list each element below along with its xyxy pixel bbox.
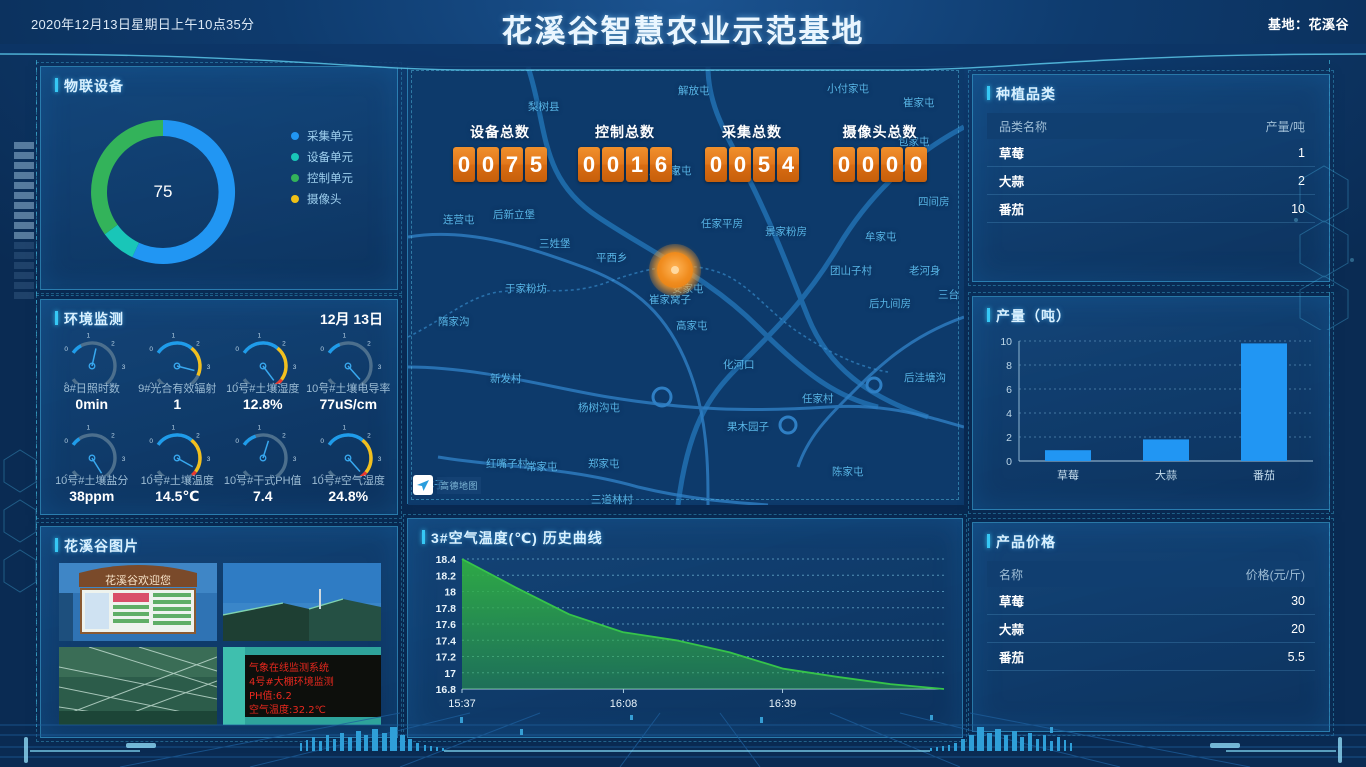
gauge-arc-blue [329,345,340,353]
stat-digits: 0054 [705,147,799,182]
table-row[interactable]: 番茄 5.5 [987,643,1315,671]
page-title: 花溪谷智慧农业示范基地 [0,6,1366,51]
gauge-value: 12.8% [220,396,306,412]
gauge-label: 10号#土壤盐分 [43,472,141,488]
map-label-13: 隋家沟 [438,314,470,329]
table-row[interactable]: 草莓 1 [987,139,1315,167]
legend-item-2[interactable]: 控制单元 [291,167,353,188]
history-area-chart[interactable]: 16.81717.217.417.617.81818.218.415:3716:… [416,547,956,727]
map-label-10: 平西乡 [596,250,628,265]
panel-iot-devices: 物联设备 75 采集单元 设备单元 [40,66,398,290]
column-header-output: 产量/吨 [1223,118,1315,135]
price-table-header: 名称 价格(元/斤) [987,561,1315,587]
gauge-tick-label: 2 [111,341,115,348]
panel-title-history: 3#空气温度(℃) 历史曲线 [422,528,603,548]
stat-title: 摄像头总数 [833,122,927,142]
legend-label: 设备单元 [307,149,353,165]
panel-title-species: 种植品类 [987,84,1056,104]
stat-digit: 0 [729,147,751,182]
stat-title: 设备总数 [453,122,547,142]
gauge-arc-yellow [363,440,371,472]
panel-output-tons: 产量（吨） 0246810草莓大蒜番茄 [972,296,1330,510]
stat-digit: 0 [881,147,903,182]
bar-1[interactable] [1143,439,1189,461]
stat-digit: 1 [626,147,648,182]
column-header-name: 品类名称 [987,118,1223,135]
stat-digit: 0 [453,147,475,182]
donut-slice-2 [91,120,163,234]
gauge-dial-4: 0123456 [50,420,134,476]
stat-digit: 0 [477,147,499,182]
cell-value: 5.5 [1223,650,1315,664]
gauge-value: 38ppm [49,488,135,504]
welcome-sign-photo-graphic: 花溪谷欢迎您 [59,563,217,641]
x-axis-tick-label: 大蒜 [1155,468,1177,482]
amap-logo-icon [413,475,433,495]
table-row[interactable]: 大蒜 20 [987,615,1315,643]
dashboard-root: 2020年12月13日星期日上午10点35分 花溪谷智慧农业示范基地 基地：花溪… [0,0,1366,767]
svg-text:PH值:6.2: PH值:6.2 [249,689,292,702]
stat-digit: 0 [602,147,624,182]
gauge-label: 10号#干式PH值 [214,472,312,488]
y-axis-tick-label: 2 [1006,432,1012,444]
gauge-tick-label: 1 [343,333,347,340]
gauge-label: 9#光合有效辐射 [129,380,227,396]
gauge-0[interactable]: 01234568#日照时数0min [49,328,135,420]
environment-date: 12月 13日 [320,309,383,329]
map-label-9: 三姓堡 [539,236,571,251]
map-label-14: 任家平房 [701,216,743,231]
stat-digit: 0 [905,147,927,182]
gauge-dial-5: 0123456 [135,420,219,476]
panel-map[interactable]: 梨树县解放屯小付家屯崔家屯居家屯包家屯康家屯连营屯后新立堡三姓堡平西乡安家屯于家… [407,66,963,504]
cell-name: 草莓 [987,591,1223,610]
map-label-1: 解放屯 [678,83,710,98]
y-axis-tick-label: 18.4 [436,554,457,566]
stat-block-1: 控制总数0016 [578,122,672,182]
legend-color-dot [291,132,299,140]
y-axis-tick-label: 8 [1006,360,1012,372]
map-label-24: 化河口 [723,357,755,372]
panel-title-iot: 物联设备 [55,76,124,96]
y-axis-tick-label: 4 [1006,408,1012,420]
gauge-tick-label: 2 [196,433,200,440]
table-row[interactable]: 大蒜 2 [987,167,1315,195]
gauge-1[interactable]: 01234569#光合有效辐射1 [135,328,221,420]
map-label-3: 崔家屯 [903,95,935,110]
gauge-tick-label: 3 [121,364,125,371]
legend-label: 采集单元 [307,128,353,144]
gauge-tick-label: 0 [321,346,325,353]
map-label-35: 三台 [938,287,959,302]
panel-title-output: 产量（吨） [987,306,1071,326]
gauge-tick-label: 2 [367,433,371,440]
gauge-tick-label: 2 [282,341,286,348]
map-label-15: 景家粉房 [765,224,807,239]
gauge-dial-6: 0123456 [221,420,305,476]
x-axis-tick-label: 番茄 [1253,468,1275,482]
map-label-32: 郑家屯 [588,456,620,471]
gauge-dial-1: 0123456 [135,328,219,384]
cell-value: 10 [1223,202,1315,216]
cell-value: 2 [1223,174,1315,188]
hex-decoration-left [0,440,40,620]
gauge-7[interactable]: 012345610号#空气湿度24.8% [306,420,392,512]
iot-donut-legend: 采集单元 设备单元 控制单元 摄像头 [291,125,353,209]
cell-value: 1 [1223,146,1315,160]
gauge-grid: 01234568#日照时数0min01234569#光合有效辐射10123456… [49,328,391,512]
legend-label: 摄像头 [307,191,342,207]
price-table: 名称 价格(元/斤) 草莓 30 大蒜 20 番茄 5.5 [987,561,1315,671]
gauge-tick-label: 2 [367,341,371,348]
gauge-arc-blue [244,343,277,353]
stat-digit: 6 [650,147,672,182]
stat-title: 控制总数 [578,122,672,142]
panel-title-photos: 花溪谷图片 [55,536,139,556]
gauge-label: 10号#土壤温度 [129,472,227,488]
gauge-tick-label: 1 [172,425,176,432]
x-axis-tick-label: 草莓 [1057,469,1079,482]
gauge-tick-label: 0 [235,346,239,353]
legend-color-dot [291,195,299,203]
cell-name: 草莓 [987,143,1223,162]
gauge-tick-label: 0 [64,438,68,445]
gauge-tick-label: 3 [207,364,211,371]
map-label-28: 果木园子 [727,419,769,434]
cell-name: 大蒜 [987,171,1223,190]
stat-digit: 0 [857,147,879,182]
svg-text:气象在线监测系统: 气象在线监测系统 [249,661,329,674]
amap-arrow-icon [416,478,430,492]
map-label-12: 于家粉坊 [505,281,547,296]
map-attribution-watermark: 高德地图 [413,475,481,495]
stat-digit: 0 [578,147,600,182]
output-bar-chart[interactable]: 0246810草莓大蒜番茄 [983,329,1321,503]
y-axis-tick-label: 16.8 [436,684,457,696]
gauge-tick-label: 3 [121,456,125,463]
map-label-16: 四间房 [918,194,950,209]
panel-title-environment: 环境监测 [55,309,124,329]
map-label-29: 红嘴子村 [486,456,528,471]
stat-digit: 7 [501,147,523,182]
stat-digit: 5 [525,147,547,182]
gauge-dial-2: 0123456 [221,328,305,384]
gauge-tick-label: 0 [235,438,239,445]
y-axis-tick-label: 6 [1006,384,1012,396]
map-label-26: 任家村 [802,391,834,406]
map-label-31: 常家屯 [526,459,558,474]
stat-digits: 0000 [833,147,927,182]
gauge-arc-blue [73,346,81,353]
gauge-tick-label: 1 [343,425,347,432]
gauge-tick-label: 3 [378,364,382,371]
column-header-price: 价格(元/斤) [1223,566,1315,583]
donut-slice-0 [132,120,235,264]
y-axis-tick-label: 17.4 [436,635,457,647]
y-axis-tick-label: 18 [444,587,456,599]
map-label-33: 陈家屯 [832,464,864,479]
species-table: 品类名称 产量/吨 草莓 1 大蒜 2 番茄 10 [987,113,1315,223]
gauge-tick-label: 3 [292,456,296,463]
legend-color-dot [291,153,299,161]
stat-digit: 5 [753,147,775,182]
panel-title-price: 产品价格 [987,532,1056,552]
greenhouse-exterior-photo[interactable] [223,563,381,641]
y-axis-tick-label: 17.6 [436,619,457,631]
panel-environment-monitoring: 环境监测 12月 13日 01234568#日照时数0min01234569#光… [40,299,398,515]
cell-name: 大蒜 [987,619,1223,638]
gauge-tick-label: 0 [150,438,154,445]
gauge-value: 14.5℃ [135,488,221,505]
gauge-value: 0min [49,396,135,412]
gauge-arc-blue [244,436,255,445]
map-label-34: 三道林村 [591,492,633,507]
gauge-4[interactable]: 012345610号#土壤盐分38ppm [49,420,135,512]
gauge-tick-label: 3 [378,456,382,463]
greenhouse-exterior-photo-graphic [223,563,381,641]
gauge-dial-7: 0123456 [306,420,390,476]
gauge-tick-label: 3 [292,364,296,371]
map-label-23: 新发村 [490,371,522,386]
cell-value: 30 [1223,594,1315,608]
stat-digits: 0016 [578,147,672,182]
legend-color-dot [291,174,299,182]
bar-2[interactable] [1241,343,1287,461]
gauge-tick-label: 1 [172,333,176,340]
base-name-label: 基地：花溪谷 [1268,14,1349,33]
map-label-22: 高家屯 [676,318,708,333]
map-label-0: 梨树县 [528,99,560,114]
legend-item-1[interactable]: 设备单元 [291,146,353,167]
legend-label: 控制单元 [307,170,353,186]
map-label-17: 牟家屯 [865,229,897,244]
welcome-sign-photo[interactable]: 花溪谷欢迎您 [59,563,217,641]
svg-text:花溪谷欢迎您: 花溪谷欢迎您 [105,573,171,587]
table-row[interactable]: 草莓 30 [987,587,1315,615]
cell-name: 番茄 [987,647,1223,666]
map-label-20: 后九间房 [869,296,911,311]
table-row[interactable]: 番茄 10 [987,195,1315,223]
bottom-decoration [0,707,1366,767]
map-label-2: 小付家屯 [827,81,869,96]
iot-donut-chart[interactable]: 75 [63,101,263,283]
map-site-marker[interactable] [649,244,701,296]
gauge-tick-label: 3 [207,456,211,463]
watermark-text: 高德地图 [437,477,481,494]
map-label-8: 后新立堡 [493,207,535,222]
gauge-arc-yellow [192,348,200,375]
bar-0[interactable] [1045,450,1091,461]
species-table-header: 品类名称 产量/吨 [987,113,1315,139]
gauge-label: 10号#土壤电导率 [300,380,398,396]
stat-digit: 4 [777,147,799,182]
map-label-19: 老河身 [909,263,941,278]
map-label-18: 团山子村 [830,263,872,278]
stat-digit: 0 [833,147,855,182]
panel-planting-species: 种植品类 品类名称 产量/吨 草莓 1 大蒜 2 番茄 10 [972,74,1330,282]
left-sidebar-decoration [14,142,34,302]
stat-digit: 0 [705,147,727,182]
gauge-label: 10号#空气湿度 [300,472,398,488]
y-axis-tick-label: 17.2 [436,652,457,664]
legend-item-3[interactable]: 摄像头 [291,188,353,209]
stat-digits: 0075 [453,147,547,182]
gauge-tick-label: 2 [196,341,200,348]
y-axis-tick-label: 10 [1000,336,1012,348]
gauge-tick-label: 1 [86,425,90,432]
legend-item-0[interactable]: 采集单元 [291,125,353,146]
svg-text:4号#大棚环境监测: 4号#大棚环境监测 [249,675,334,688]
gauge-tick-label: 0 [321,438,325,445]
gauge-3[interactable]: 012345610号#土壤电导率77uS/cm [306,328,392,420]
gauge-tick-label: 0 [150,346,154,353]
gauge-arc-yellow [277,348,285,379]
stat-title: 采集总数 [705,122,799,142]
left-edge-dashed-line [36,60,37,727]
gauge-tick-label: 2 [282,433,286,440]
gauge-arc-blue [158,343,191,353]
gauge-5[interactable]: 012345610号#土壤温度14.5℃ [135,420,221,512]
gauge-label: 8#日照时数 [43,380,141,396]
donut-svg [63,101,263,283]
y-axis-tick-label: 0 [1006,456,1012,468]
photo-grid: 花溪谷欢迎您 [59,563,381,725]
gauge-value: 7.4 [220,488,306,504]
gauge-tick-label: 0 [64,346,68,353]
gauge-value: 1 [135,396,221,412]
column-header-name: 名称 [987,566,1223,583]
map-label-25: 后洼塘沟 [904,370,946,385]
gauge-tick-label: 1 [86,333,90,340]
y-axis-tick-label: 17.8 [436,603,457,615]
gauge-dial-0: 0123456 [50,328,134,384]
gauge-value: 24.8% [306,488,392,504]
gauge-value: 77uS/cm [306,396,392,412]
gauge-arc-yellow [192,440,200,471]
stat-block-3: 摄像头总数0000 [833,122,927,182]
gauge-tick-label: 1 [257,333,261,340]
gauge-6[interactable]: 012345610号#干式PH值7.4 [220,420,306,512]
cell-value: 20 [1223,622,1315,636]
gauge-arc-blue [329,435,362,445]
gauge-arc-blue [73,439,79,445]
gauge-dial-3: 0123456 [306,328,390,384]
y-axis-tick-label: 17 [444,668,456,680]
y-axis-tick-label: 18.2 [436,570,457,582]
marker-center-dot [671,266,679,274]
gauge-arc-blue [158,435,191,445]
map-label-7: 连营屯 [443,212,475,227]
gauge-tick-label: 2 [111,433,115,440]
gauge-tick-label: 1 [257,425,261,432]
panel-product-price: 产品价格 名称 价格(元/斤) 草莓 30 大蒜 20 番茄 5.5 [972,522,1330,732]
gauge-2[interactable]: 012345610号#土壤湿度12.8% [220,328,306,420]
stat-block-2: 采集总数0054 [705,122,799,182]
cell-name: 番茄 [987,199,1223,218]
stat-block-0: 设备总数0075 [453,122,547,182]
panel-history-curve: 3#空气温度(℃) 历史曲线 16.81717.217.417.617.8181… [407,518,963,738]
gauge-label: 10号#土壤湿度 [214,380,312,396]
map-label-27: 杨树沟屯 [578,400,620,415]
